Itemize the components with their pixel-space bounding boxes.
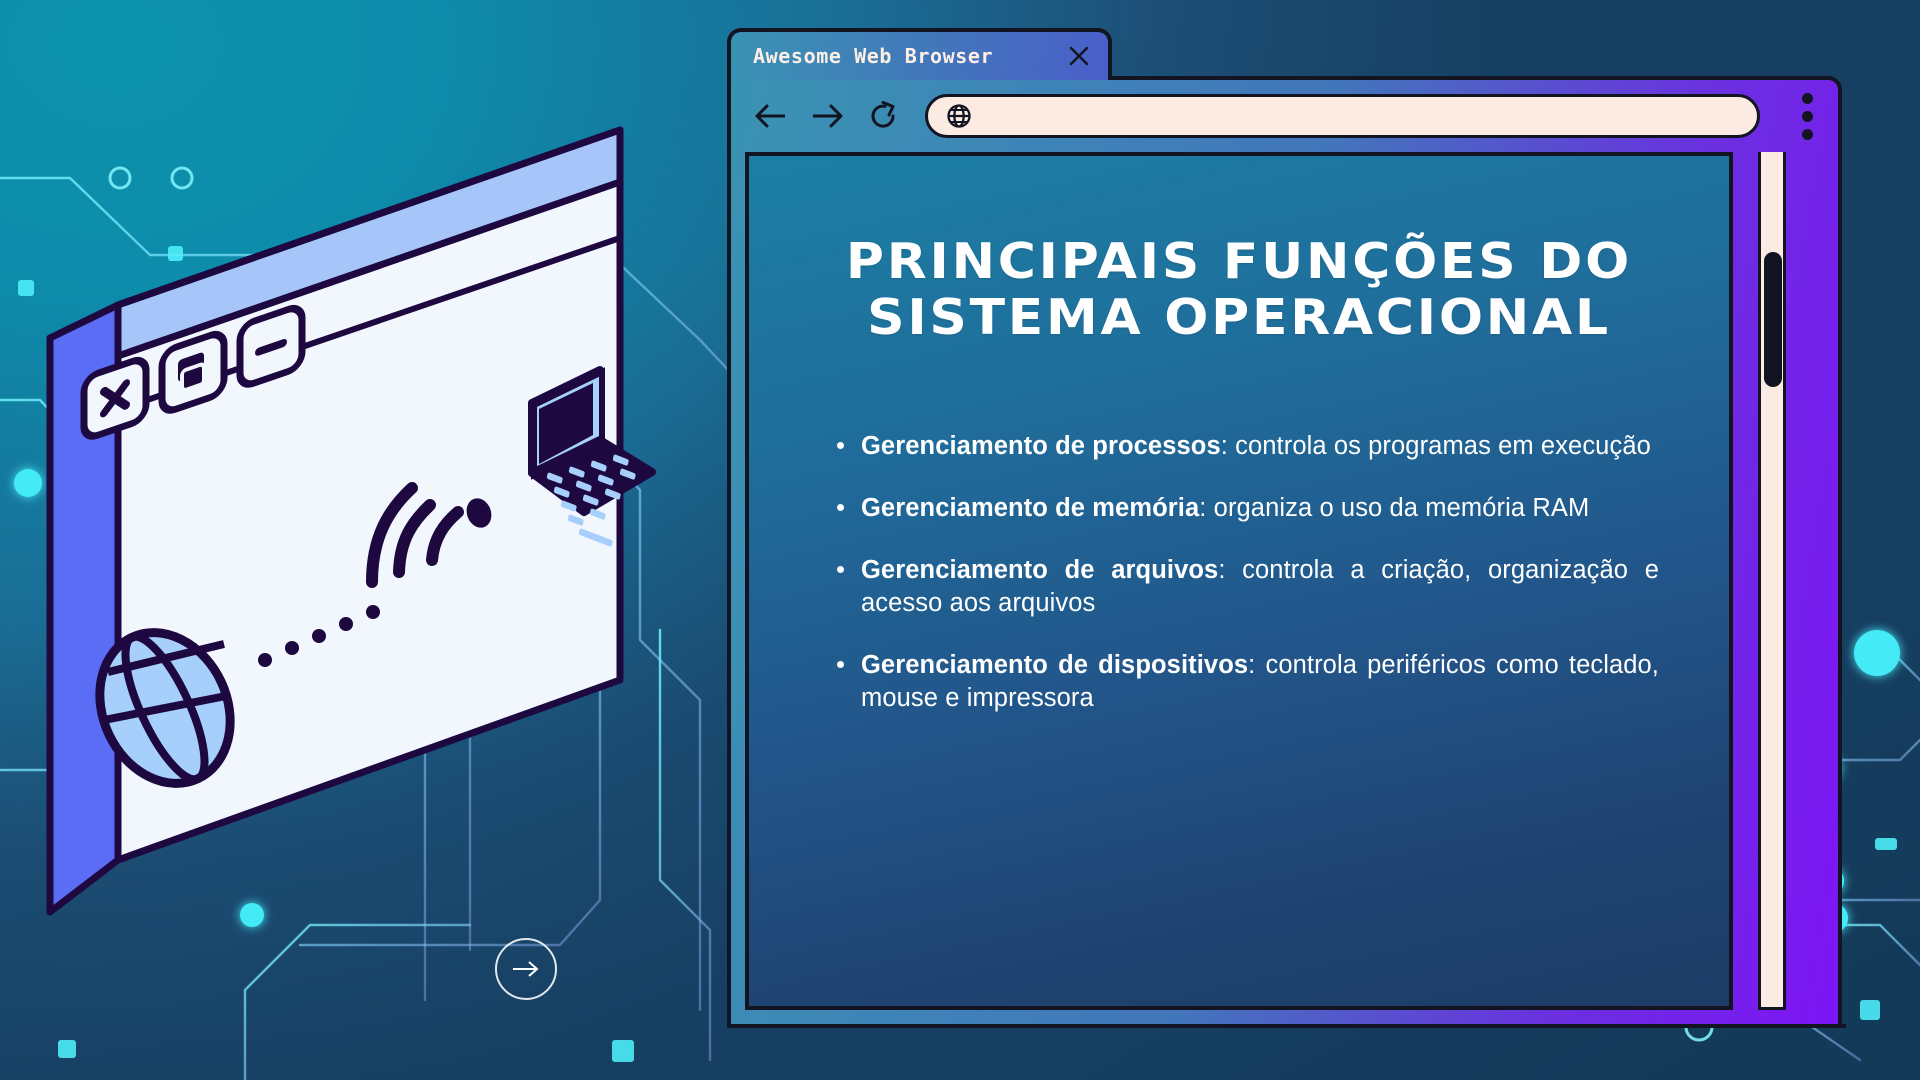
browser-titlebar: Awesome Web Browser xyxy=(727,28,1112,80)
list-item: Gerenciamento de memória: organiza o uso… xyxy=(835,492,1659,524)
slide-content: PRINCIPAIS FUNÇÕES DO SISTEMA OPERACIONA… xyxy=(749,156,1729,714)
forward-arrow-icon[interactable] xyxy=(807,96,847,136)
browser-title: Awesome Web Browser xyxy=(753,44,993,68)
browser-viewport: PRINCIPAIS FUNÇÕES DO SISTEMA OPERACIONA… xyxy=(745,152,1733,1010)
menu-dot xyxy=(1802,129,1813,140)
list-item: Gerenciamento de arquivos: controla a cr… xyxy=(835,554,1659,619)
list-item-separator: : xyxy=(1218,556,1242,584)
kebab-menu-icon[interactable] xyxy=(1776,86,1838,146)
menu-dot xyxy=(1802,111,1813,122)
next-slide-button[interactable] xyxy=(495,938,557,1000)
list-item-term: Gerenciamento de processos xyxy=(861,432,1221,460)
vertical-scrollbar[interactable] xyxy=(1758,152,1786,1010)
list-item: Gerenciamento de processos: controla os … xyxy=(835,430,1659,462)
browser-chrome: PRINCIPAIS FUNÇÕES DO SISTEMA OPERACIONA… xyxy=(727,76,1842,1028)
globe-icon xyxy=(946,103,972,129)
frame-bottom-edge xyxy=(727,1024,1846,1028)
menu-dot xyxy=(1802,93,1813,104)
browser-toolbar xyxy=(731,80,1838,152)
list-item-separator: : xyxy=(1221,432,1235,460)
reload-icon[interactable] xyxy=(863,96,903,136)
isometric-browser-illustration xyxy=(40,120,660,940)
list-item-term: Gerenciamento de arquivos xyxy=(861,556,1218,584)
list-item: Gerenciamento de dispositivos: controla … xyxy=(835,649,1659,714)
close-icon[interactable] xyxy=(1066,43,1092,69)
page-title: PRINCIPAIS FUNÇÕES DO SISTEMA OPERACIONA… xyxy=(779,234,1699,346)
feature-list: Gerenciamento de processos: controla os … xyxy=(805,430,1673,714)
browser-mockup: Awesome Web Browser xyxy=(727,28,1842,1028)
scrollbar-thumb[interactable] xyxy=(1764,252,1782,387)
list-item-description: controla os programas em execução xyxy=(1235,432,1651,460)
list-item-separator: : xyxy=(1248,651,1265,679)
address-bar[interactable] xyxy=(925,94,1760,138)
list-item-description: organiza o uso da memória RAM xyxy=(1214,494,1590,522)
list-item-term: Gerenciamento de memória xyxy=(861,494,1199,522)
back-arrow-icon[interactable] xyxy=(751,96,791,136)
list-item-separator: : xyxy=(1199,494,1213,522)
arrow-right-icon xyxy=(511,959,541,979)
list-item-term: Gerenciamento de dispositivos xyxy=(861,651,1248,679)
